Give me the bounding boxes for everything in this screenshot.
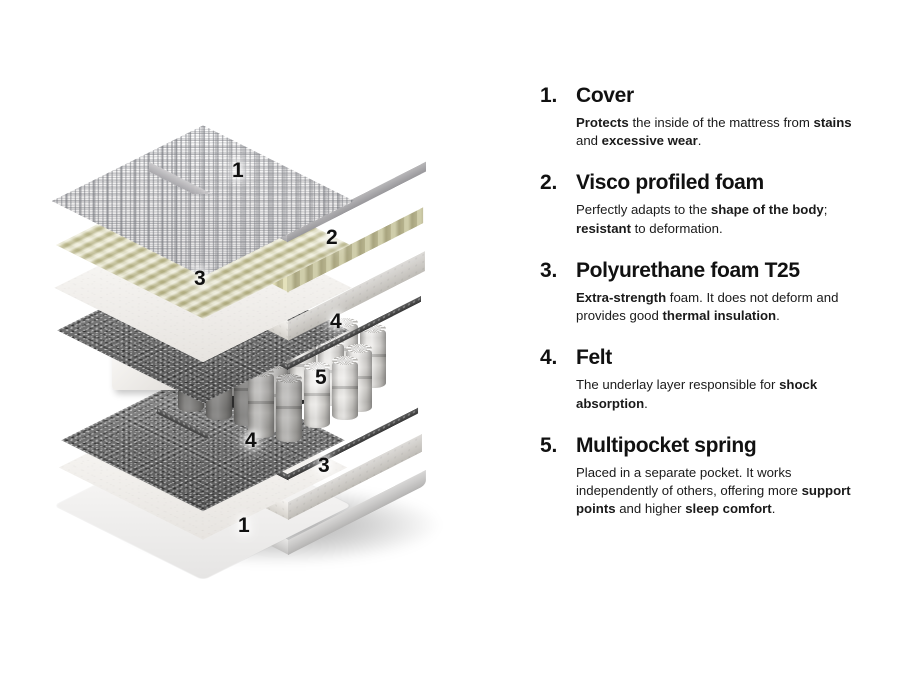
legend-head: 5. Multipocket spring [540, 434, 888, 458]
legend-title: Multipocket spring [576, 434, 756, 458]
legend-number: 5. [540, 434, 576, 458]
legend-number: 4. [540, 346, 576, 370]
legend-number: 1. [540, 84, 576, 108]
mattress-exploded-diagram: 1 2 3 4 5 4 3 1 [0, 0, 520, 675]
diagram-label-foam-bottom: 3 [318, 455, 330, 476]
mattress-layers-infographic: 1 2 3 4 5 4 3 1 1. Cover Protects the in… [0, 0, 900, 675]
diagram-label-visco: 2 [326, 227, 338, 248]
diagram-label-felt-bottom: 4 [245, 430, 257, 451]
diagram-label-cover-bottom: 1 [238, 515, 250, 536]
legend-description: Placed in a separate pocket. It works in… [576, 464, 876, 519]
legend-title: Felt [576, 346, 612, 370]
diagram-label-felt-top: 4 [330, 311, 342, 332]
legend-title: Polyurethane foam T25 [576, 259, 800, 283]
legend-description: The underlay layer responsible for shock… [576, 376, 876, 412]
legend-title: Visco profiled foam [576, 171, 764, 195]
layer-legend-list: 1. Cover Protects the inside of the matt… [540, 84, 888, 539]
legend-head: 4. Felt [540, 346, 888, 370]
legend-number: 2. [540, 171, 576, 195]
legend-item-polyurethane-foam: 3. Polyurethane foam T25 Extra-strength … [540, 259, 888, 325]
legend-item-visco-profiled-foam: 2. Visco profiled foam Perfectly adapts … [540, 171, 888, 237]
spring-coil [276, 378, 302, 442]
legend-head: 2. Visco profiled foam [540, 171, 888, 195]
legend-description: Protects the inside of the mattress from… [576, 114, 876, 150]
legend-item-cover: 1. Cover Protects the inside of the matt… [540, 84, 888, 150]
legend-item-multipocket-spring: 5. Multipocket spring Placed in a separa… [540, 434, 888, 519]
layer-cover-top [128, 124, 428, 244]
diagram-label-cover-top: 1 [232, 160, 244, 181]
legend-title: Cover [576, 84, 634, 108]
diagram-label-foam-top: 3 [194, 268, 206, 289]
legend-description: Extra-strength foam. It does not deform … [576, 289, 876, 325]
legend-description: Perfectly adapts to the shape of the bod… [576, 201, 876, 237]
legend-number: 3. [540, 259, 576, 283]
legend-head: 3. Polyurethane foam T25 [540, 259, 888, 283]
legend-item-felt: 4. Felt The underlay layer responsible f… [540, 346, 888, 412]
legend-head: 1. Cover [540, 84, 888, 108]
diagram-label-springs: 5 [315, 367, 327, 388]
